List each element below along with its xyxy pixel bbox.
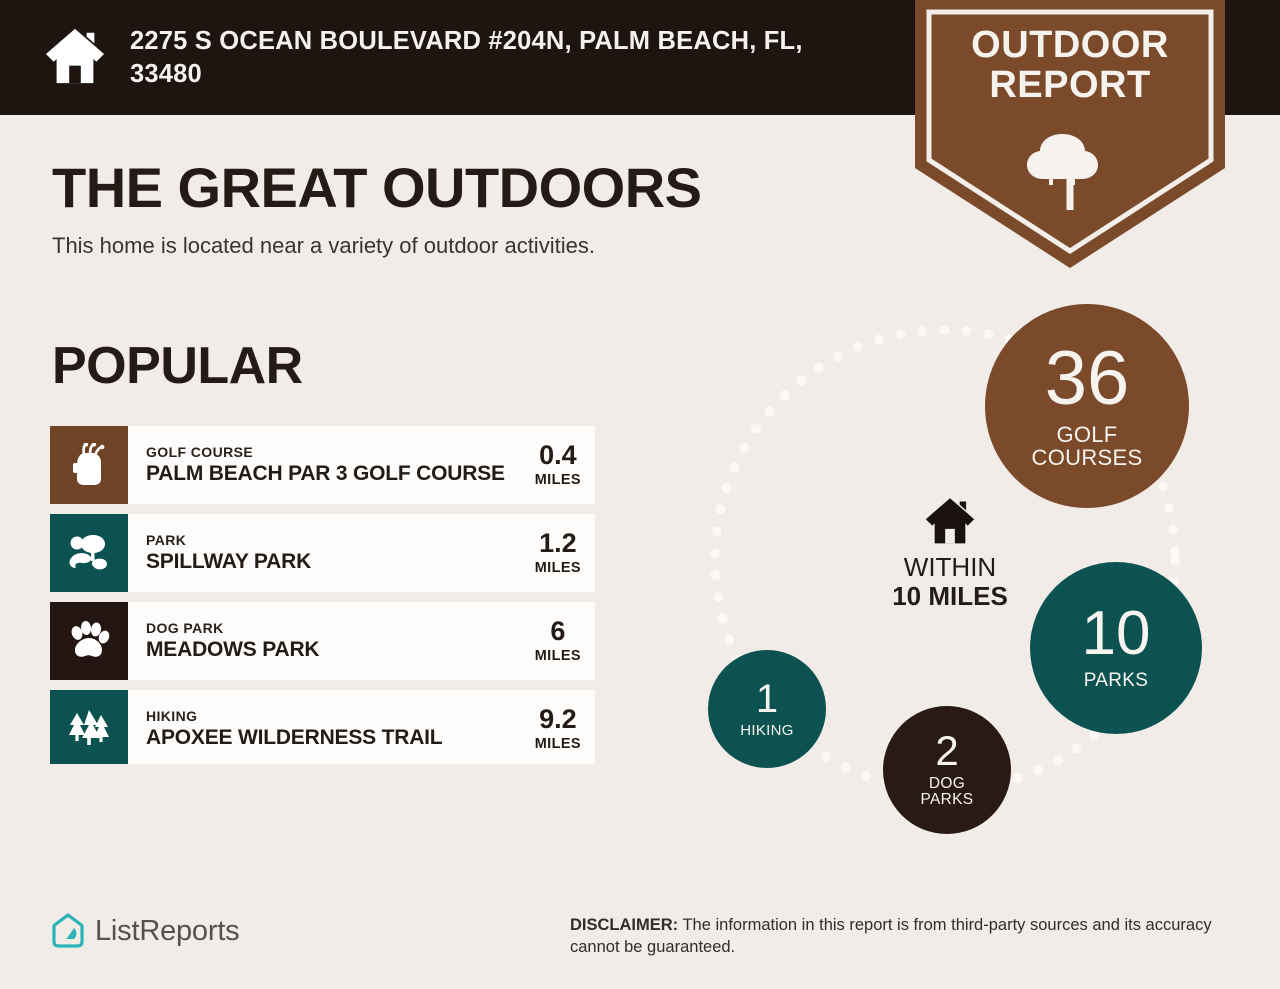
poi-body: DOG PARK MEADOWS PARK 6 MILES <box>128 602 595 680</box>
poi-distance-value: 0.4 <box>535 442 581 469</box>
list-item[interactable]: HIKING APOXEE WILDERNESS TRAIL 9.2 MILES <box>50 690 595 764</box>
stat-label-line-1: PARKS <box>1084 671 1149 691</box>
poi-distance-value: 9.2 <box>535 706 581 733</box>
poi-name: MEADOWS PARK <box>146 638 319 662</box>
stat-circle-parks[interactable]: 10 PARKS <box>1030 562 1202 734</box>
page-subtitle: This home is located near a variety of o… <box>52 233 595 259</box>
poi-name: APOXEE WILDERNESS TRAIL <box>146 726 442 750</box>
poi-distance-unit: MILES <box>535 736 581 752</box>
poi-icon-tile <box>50 426 128 504</box>
disclaimer: DISCLAIMER: The information in this repo… <box>570 915 1230 959</box>
stat-value: 2 <box>935 731 958 771</box>
poi-icon-tile <box>50 602 128 680</box>
poi-distance-value: 1.2 <box>535 530 581 557</box>
house-icon <box>44 25 106 90</box>
stat-value: 1 <box>756 680 778 718</box>
poi-category: PARK <box>146 532 311 550</box>
header-address: 2275 S OCEAN BOULEVARD #204N, PALM BEACH… <box>130 25 870 90</box>
stat-label-line-2: COURSES <box>1032 446 1143 469</box>
poi-body: HIKING APOXEE WILDERNESS TRAIL 9.2 MILES <box>128 690 595 764</box>
house-icon <box>855 495 1045 545</box>
listreports-logo-text: ListReports <box>95 915 239 948</box>
stat-label-line-2: PARKS <box>921 792 974 808</box>
poi-distance: 0.4 MILES <box>525 442 581 488</box>
poi-icon-tile <box>50 690 128 764</box>
list-item[interactable]: GOLF COURSE PALM BEACH PAR 3 GOLF COURSE… <box>50 426 595 504</box>
stat-label-line-1: DOG <box>929 776 965 792</box>
poi-category: DOG PARK <box>146 620 319 638</box>
popular-list: GOLF COURSE PALM BEACH PAR 3 GOLF COURSE… <box>50 426 595 764</box>
listreports-house-logo-icon <box>50 912 86 950</box>
stat-value: 36 <box>1045 343 1130 415</box>
center-label-line-2: 10 MILES <box>855 582 1045 611</box>
poi-distance-value: 6 <box>535 618 581 645</box>
popular-heading: POPULAR <box>52 336 303 396</box>
center-label-line-1: WITHIN <box>855 553 1045 582</box>
stat-value: 10 <box>1082 605 1151 664</box>
pine-trees-icon <box>67 709 111 749</box>
badge-line-2: REPORT <box>915 66 1225 106</box>
outdoor-report-badge: OUTDOOR REPORT <box>915 0 1225 268</box>
list-item[interactable]: PARK SPILLWAY PARK 1.2 MILES <box>50 514 595 592</box>
list-item[interactable]: DOG PARK MEADOWS PARK 6 MILES <box>50 602 595 680</box>
poi-icon-tile <box>50 514 128 592</box>
poi-body: GOLF COURSE PALM BEACH PAR 3 GOLF COURSE… <box>128 426 595 504</box>
poi-category: HIKING <box>146 708 442 726</box>
badge-title: OUTDOOR REPORT <box>915 26 1225 106</box>
stat-circle-dog-parks[interactable]: 2 DOG PARKS <box>883 706 1011 834</box>
park-trees-icon <box>68 533 110 573</box>
poi-distance-unit: MILES <box>535 560 581 576</box>
poi-distance: 9.2 MILES <box>525 706 581 752</box>
poi-name: SPILLWAY PARK <box>146 550 311 574</box>
poi-category: GOLF COURSE <box>146 444 505 462</box>
stat-label-line-1: GOLF <box>1056 423 1117 446</box>
stat-circle-hiking[interactable]: 1 HIKING <box>708 650 826 768</box>
golf-bag-icon <box>69 443 109 487</box>
stat-label-line-1: HIKING <box>740 723 793 739</box>
paw-print-icon <box>68 621 110 661</box>
badge-line-1: OUTDOOR <box>915 26 1225 66</box>
poi-distance: 6 MILES <box>525 618 581 664</box>
disclaimer-label: DISCLAIMER: <box>570 916 678 934</box>
poi-distance-unit: MILES <box>535 472 581 488</box>
poi-distance-unit: MILES <box>535 648 581 664</box>
poi-distance: 1.2 MILES <box>525 530 581 576</box>
diagram-center-label: WITHIN 10 MILES <box>855 495 1045 610</box>
listreports-logo[interactable]: ListReports <box>50 912 239 950</box>
poi-name: PALM BEACH PAR 3 GOLF COURSE <box>146 462 505 486</box>
stat-circle-golf-courses[interactable]: 36 GOLF COURSES <box>985 304 1189 508</box>
page-title: THE GREAT OUTDOORS <box>52 155 702 220</box>
within-10-miles-diagram: 36 GOLF COURSES 10 PARKS 2 DOG PARKS 1 H… <box>650 290 1250 860</box>
poi-body: PARK SPILLWAY PARK 1.2 MILES <box>128 514 595 592</box>
